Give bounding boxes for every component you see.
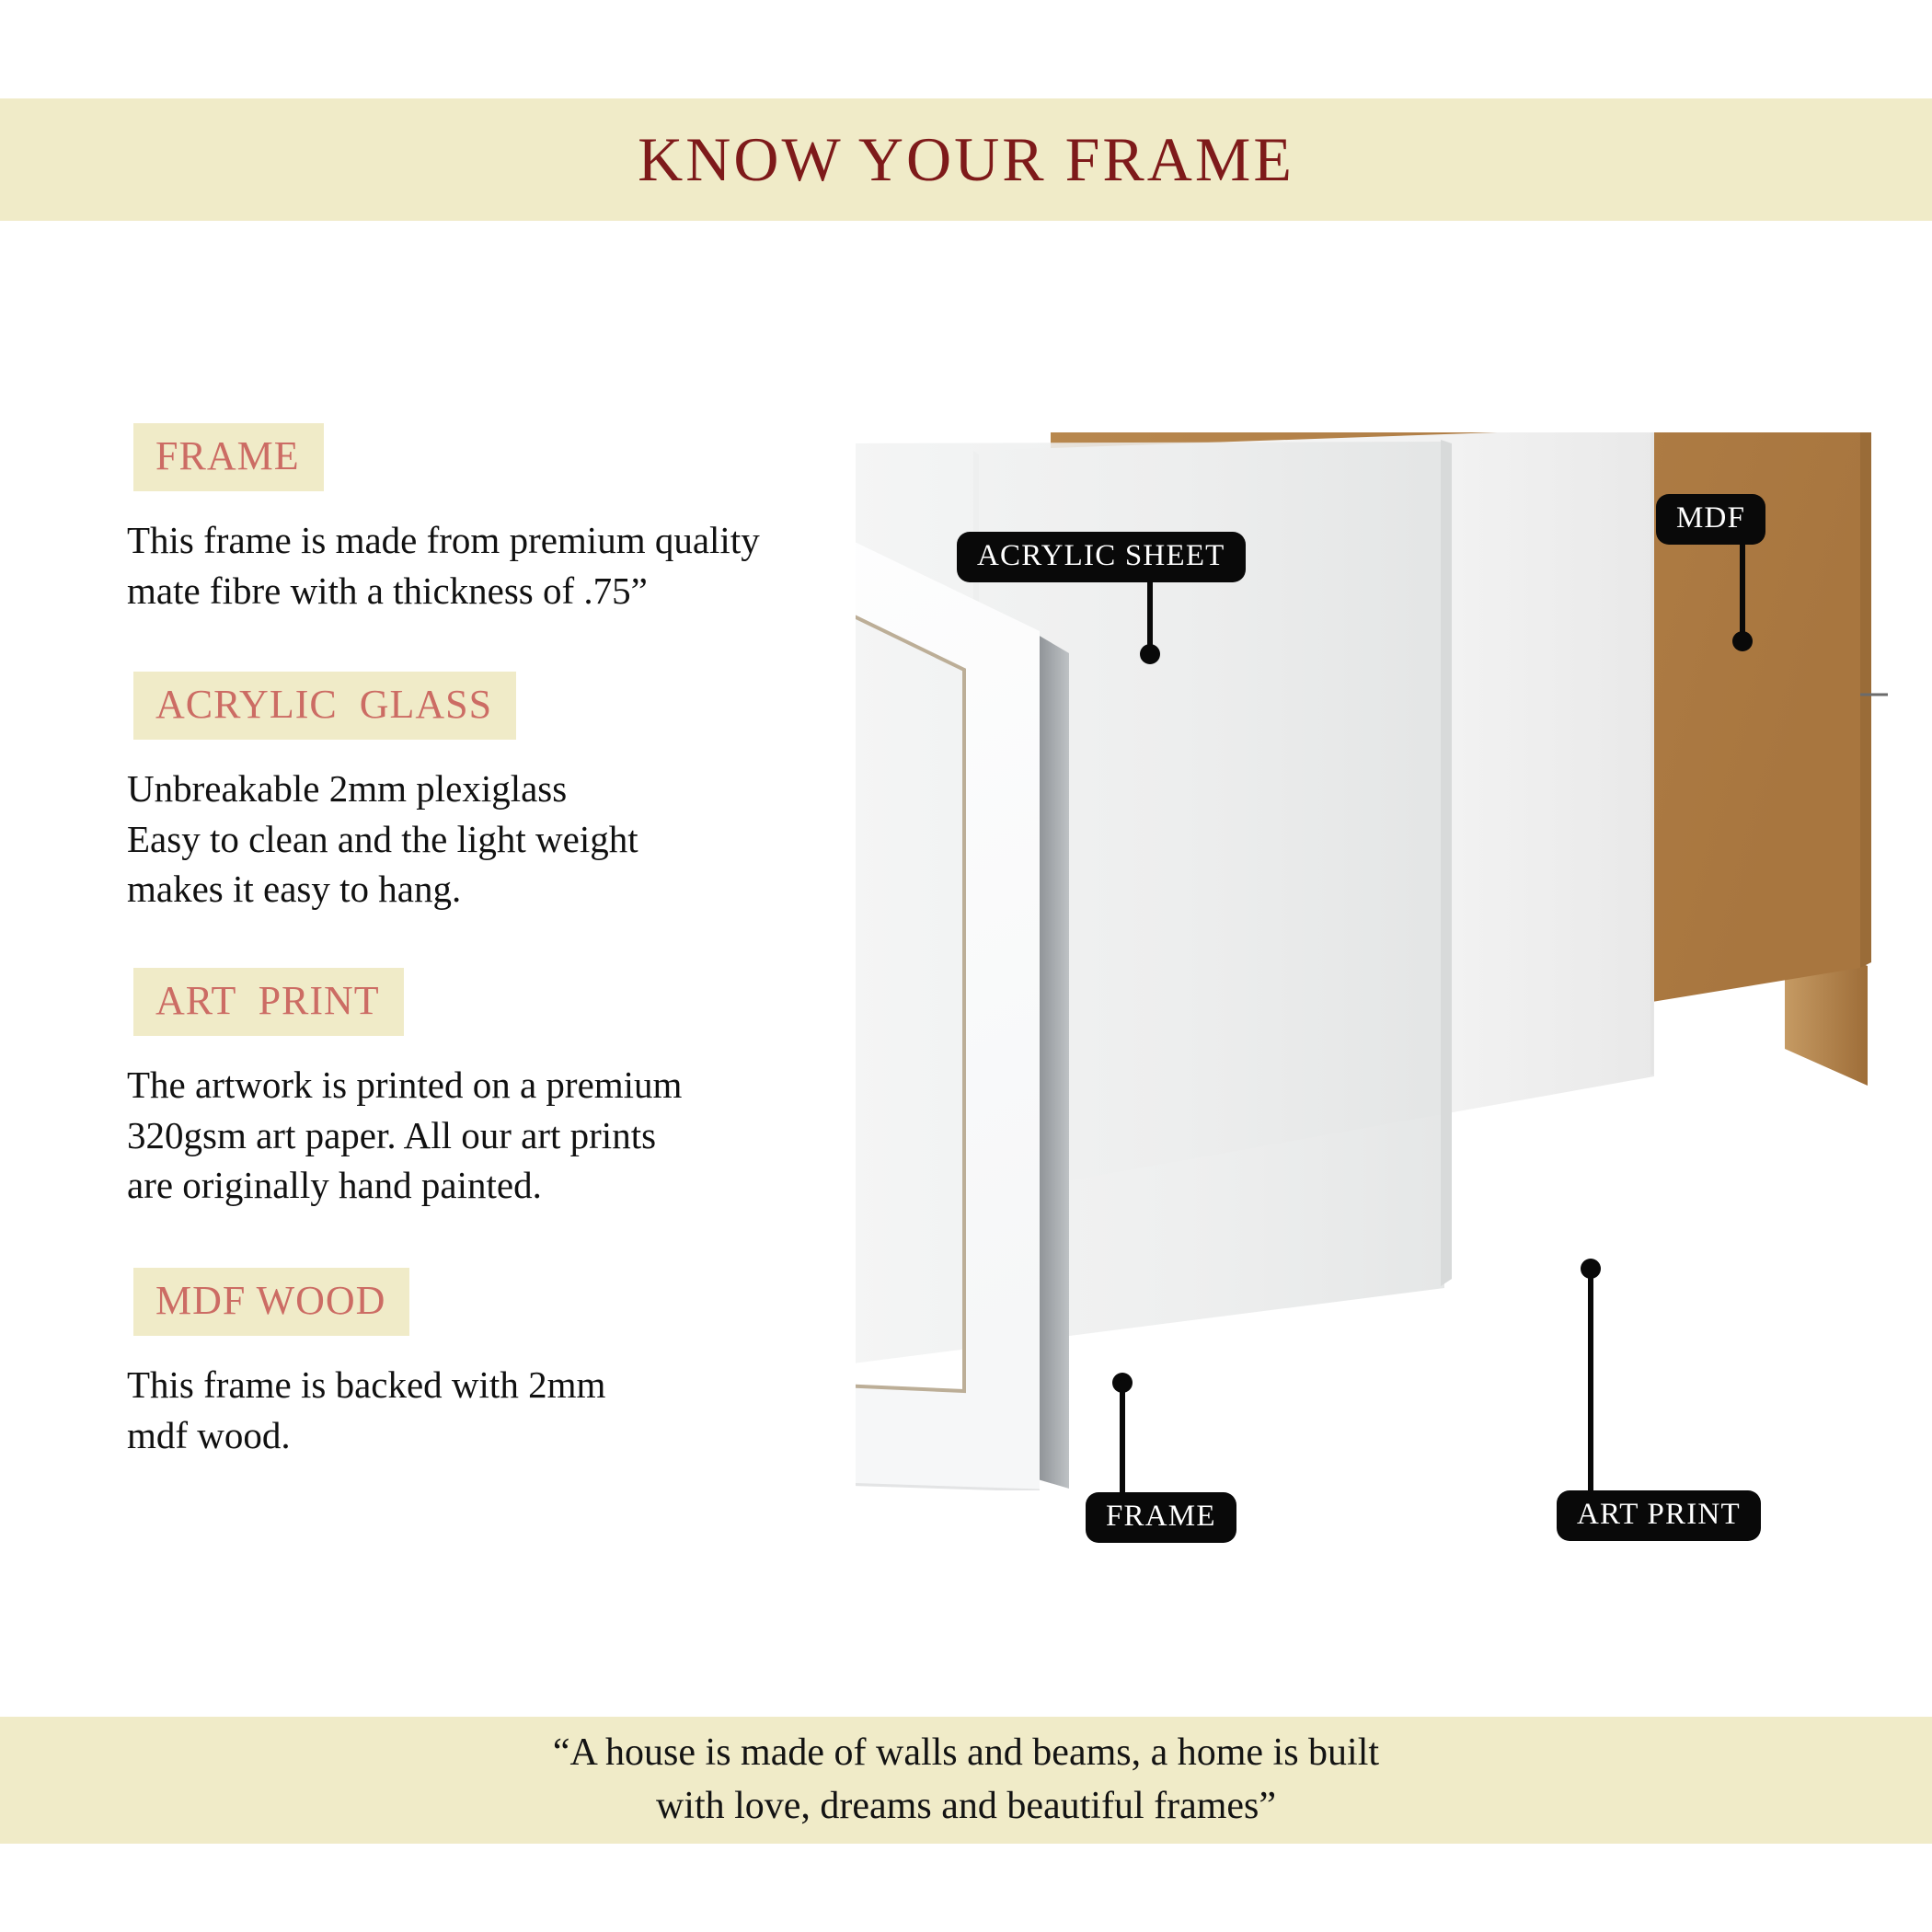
callout-art-print[interactable]: ART PRINT bbox=[1557, 1490, 1761, 1541]
section-body-acrylic-glass: Unbreakable 2mm plexiglass Easy to clean… bbox=[127, 764, 638, 914]
section-acrylic-glass: ACRYLIC GLASS Unbreakable 2mm plexiglass… bbox=[0, 672, 638, 914]
callout-label-frame: FRAME bbox=[1106, 1500, 1216, 1533]
leader-line-mdf bbox=[1740, 541, 1745, 642]
section-heading-mdf-wood: MDF WOOD bbox=[133, 1268, 409, 1336]
footer-quote-band: “A house is made of walls and beams, a h… bbox=[0, 1717, 1932, 1844]
section-heading-art-print: ART PRINT bbox=[133, 968, 404, 1036]
callout-label-mdf: MDF bbox=[1676, 501, 1745, 535]
leader-line-art-print bbox=[1588, 1268, 1593, 1502]
footer-quote: “A house is made of walls and beams, a h… bbox=[553, 1727, 1379, 1834]
leader-line-frame bbox=[1120, 1380, 1125, 1504]
section-body-frame: This frame is made from premium quality … bbox=[127, 515, 760, 615]
page-title: KNOW YOUR FRAME bbox=[638, 123, 1294, 196]
section-body-art-print: The artwork is printed on a premium 320g… bbox=[127, 1060, 682, 1211]
callout-frame[interactable]: FRAME bbox=[1086, 1492, 1236, 1543]
section-body-mdf-wood: This frame is backed with 2mm mdf wood. bbox=[127, 1360, 605, 1460]
callout-label-art-print: ART PRINT bbox=[1577, 1498, 1741, 1531]
leader-dot-acrylic-sheet bbox=[1140, 644, 1160, 664]
section-heading-acrylic-glass: ACRYLIC GLASS bbox=[133, 672, 516, 740]
exploded-frame-diagram bbox=[856, 432, 1932, 1490]
callout-acrylic-sheet[interactable]: ACRYLIC SHEET bbox=[957, 532, 1246, 582]
section-heading-frame: FRAME bbox=[133, 423, 324, 491]
section-frame: FRAME This frame is made from premium qu… bbox=[0, 423, 760, 615]
callout-label-acrylic-sheet: ACRYLIC SHEET bbox=[977, 539, 1225, 572]
section-mdf-wood: MDF WOOD This frame is backed with 2mm m… bbox=[0, 1268, 605, 1460]
leader-dot-mdf bbox=[1732, 631, 1753, 651]
callout-mdf[interactable]: MDF bbox=[1656, 494, 1765, 545]
header-band: KNOW YOUR FRAME bbox=[0, 98, 1932, 221]
section-art-print: ART PRINT The artwork is printed on a pr… bbox=[0, 968, 682, 1211]
